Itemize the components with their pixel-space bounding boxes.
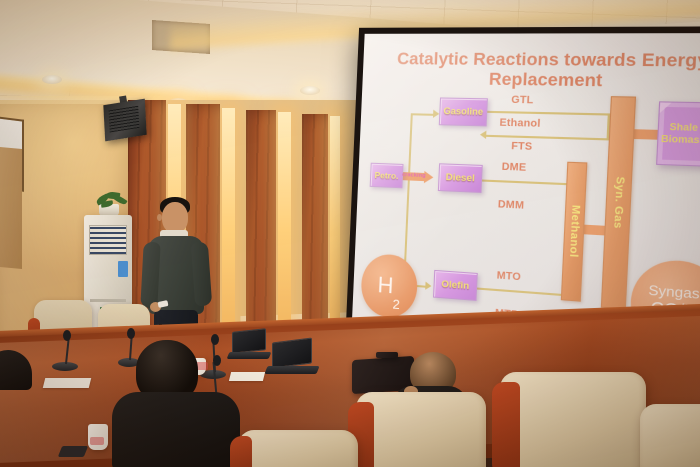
node-methanol-label: Methanol	[567, 205, 582, 258]
presenter-arm-right	[191, 241, 212, 306]
presenter-head	[162, 202, 188, 233]
conference-room-photo: Catalytic Reactions towards Energy Repla…	[0, 0, 700, 467]
microphone-head-icon	[127, 328, 135, 339]
chair-front-center	[238, 430, 358, 467]
chair-front-left	[356, 392, 486, 467]
presenter-arm-left	[140, 242, 160, 309]
laptop-keyboard[interactable]	[264, 366, 319, 374]
connector-to-gasoline	[411, 113, 435, 116]
paper-sheet	[43, 378, 91, 388]
door-frame	[0, 147, 22, 269]
connector-mto	[467, 287, 562, 296]
wood-column	[302, 114, 328, 348]
connector-dme	[471, 179, 566, 185]
legend-h2-main: H	[377, 273, 394, 297]
wall-light-strip	[278, 112, 291, 348]
ac-grille	[89, 225, 127, 255]
slide-title: Catalytic Reactions towards Energy Repla…	[376, 50, 700, 95]
attendee-center-body	[112, 392, 240, 467]
wall-speaker-icon	[103, 99, 146, 142]
wall-light-strip	[222, 108, 235, 348]
wall-light-strip	[330, 116, 340, 348]
label-dmm: DMM	[498, 199, 525, 212]
node-feedstock: Shale Gas/ Biomass/Coal	[656, 101, 700, 167]
node-diesel: Diesel	[438, 163, 483, 193]
connector-feed-to-syngas	[634, 129, 660, 140]
chair-arm-front-center	[230, 436, 252, 467]
chair-arm-front-right	[492, 382, 520, 467]
connector-fts	[486, 135, 609, 141]
laptop-screen[interactable]	[272, 338, 312, 369]
label-dme: DME	[501, 161, 526, 173]
laptop-screen[interactable]	[232, 328, 266, 354]
arrow-fts-icon	[480, 130, 487, 139]
ac-energy-label	[118, 261, 128, 277]
connector-gtl	[487, 111, 610, 116]
bag-handle	[376, 352, 398, 358]
node-petro: Petro.	[370, 163, 404, 189]
node-olefin: Olefin	[433, 270, 478, 301]
arrow-into-olefin-icon	[425, 282, 431, 291]
wood-column	[246, 110, 276, 350]
microphone-head-icon	[211, 334, 219, 345]
laptop-keyboard[interactable]	[227, 352, 272, 359]
ac-seam	[90, 299, 126, 302]
presenter-ear	[157, 214, 162, 221]
legend-h2-subscript: 2	[392, 298, 400, 312]
ceiling-downlight-icon	[42, 75, 62, 84]
microphone-head-icon	[213, 355, 221, 366]
paper-cup	[88, 424, 108, 450]
label-mto: MTO	[496, 270, 521, 283]
chair-front-right	[500, 372, 646, 467]
node-feedstock-line2: Biomass/Coal	[661, 134, 700, 146]
ceiling-downlight-icon	[300, 86, 320, 95]
label-cracking: cracking	[402, 172, 426, 179]
node-gasoline: Gasoline	[439, 97, 488, 126]
chair-far-right	[640, 404, 700, 467]
legend-h2-circle: H2	[360, 253, 418, 320]
paper-sheet	[229, 372, 265, 381]
mobile-phone[interactable]	[58, 446, 88, 457]
node-syn-gas-label: Syn. Gas	[611, 176, 626, 229]
label-ethanol: Ethanol	[499, 117, 541, 130]
label-fts: FTS	[511, 141, 533, 153]
microphone-head-icon	[63, 330, 71, 341]
label-gtl: GTL	[511, 95, 534, 107]
